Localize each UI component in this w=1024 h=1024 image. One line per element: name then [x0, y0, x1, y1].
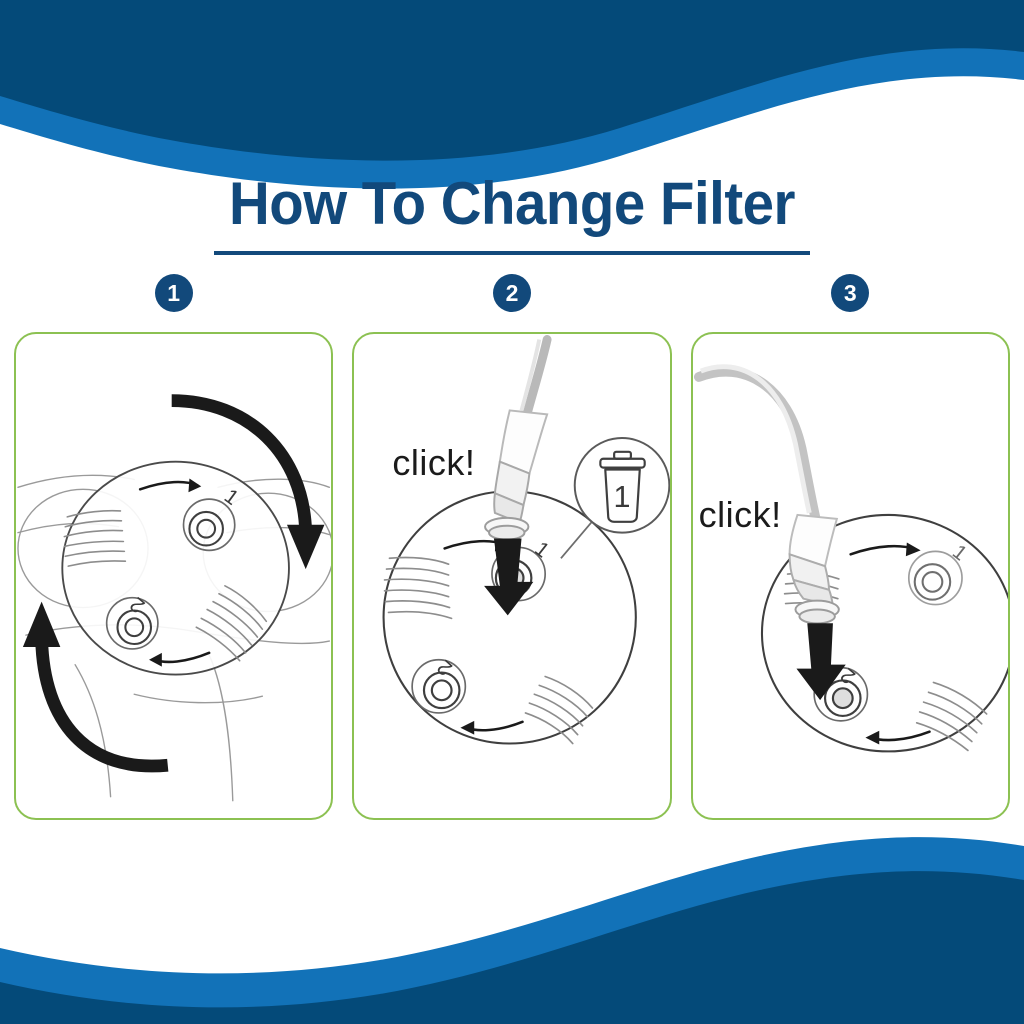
title-block: How To Change Filter: [0, 172, 1024, 255]
click-label-step-2: click!: [392, 442, 475, 484]
step-badge-2: 2: [493, 274, 531, 312]
step-badge-row: 1 2 3: [14, 274, 1010, 312]
lid-outline: [62, 462, 289, 675]
step-1-illustration: 1 2: [16, 334, 331, 818]
page-title: How To Change Filter: [31, 172, 994, 235]
badge-cell-3: 3: [691, 274, 1010, 312]
step-panel-1: 1 2: [14, 332, 333, 820]
bottom-wave-navy-band: [0, 871, 1024, 1024]
discard-callout: 1: [561, 438, 669, 558]
step-badge-3: 3: [831, 274, 869, 312]
step-panel-2: 1 2: [352, 332, 671, 820]
infographic-root: How To Change Filter 1 2 3: [0, 0, 1024, 1024]
badge-cell-1: 1: [14, 274, 333, 312]
bottom-wave-banner: [0, 824, 1024, 1024]
filter-lid: 1 2: [62, 462, 289, 675]
bottom-wave-light-band: [0, 837, 1024, 1024]
step-2-illustration: 1 2: [354, 334, 669, 818]
step-panel-3: 1 2: [691, 332, 1010, 820]
step-panels-row: 1 2: [14, 332, 1010, 820]
bottom-wave-svg: [0, 824, 1024, 1024]
step-badge-1: 1: [155, 274, 193, 312]
top-wave-light-band: [0, 0, 1024, 189]
badge-cell-2: 2: [352, 274, 671, 312]
trash-can-number: 1: [614, 480, 631, 514]
title-underline: [214, 251, 810, 255]
step-3-illustration: 1 2: [693, 334, 1008, 818]
top-wave-navy-band: [0, 0, 1024, 161]
click-label-step-3: click!: [699, 494, 782, 536]
